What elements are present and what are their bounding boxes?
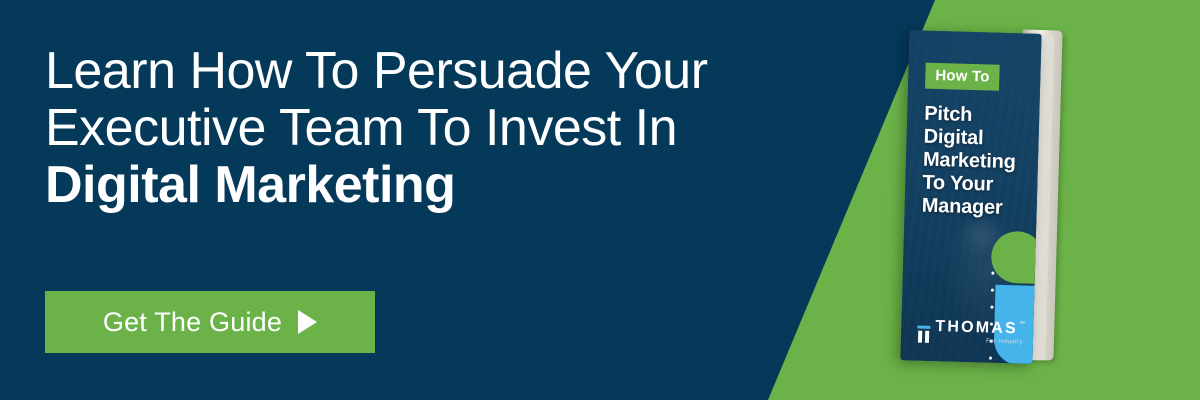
play-triangle-icon (298, 310, 317, 334)
thomas-logo: THOMAS ™ For Industry. (917, 319, 1025, 346)
headline-line-3-bold: Digital Marketing (45, 157, 875, 214)
ebook-mockup[interactable]: How To Pitch Digital Marketing To Your M… (900, 18, 1160, 383)
promo-banner: Learn How To Persuade Your Executive Tea… (0, 0, 1200, 400)
speech-bubble-shape (991, 231, 1042, 284)
logo-trademark: ™ (1019, 321, 1025, 327)
ebook-title: Pitch Digital Marketing To Your Manager (921, 103, 1036, 221)
logo-wordmark: THOMAS ™ For Industry. (935, 319, 1025, 345)
headline-block: Learn How To Persuade Your Executive Tea… (45, 43, 875, 214)
logo-name: THOMAS (935, 319, 1018, 337)
page-title: Learn How To Persuade Your Executive Tea… (45, 43, 875, 214)
ebook-cover: How To Pitch Digital Marketing To Your M… (900, 30, 1041, 364)
headline-line-2: Executive Team To Invest In (45, 99, 677, 157)
headline-line-1: Learn How To Persuade Your (45, 42, 708, 100)
thomas-bars-logo-icon (917, 326, 930, 343)
how-to-badge: How To (925, 63, 1000, 91)
get-the-guide-button[interactable]: Get The Guide (45, 291, 375, 353)
logo-tagline: For Industry. (986, 338, 1025, 345)
cta-label: Get The Guide (103, 309, 282, 336)
